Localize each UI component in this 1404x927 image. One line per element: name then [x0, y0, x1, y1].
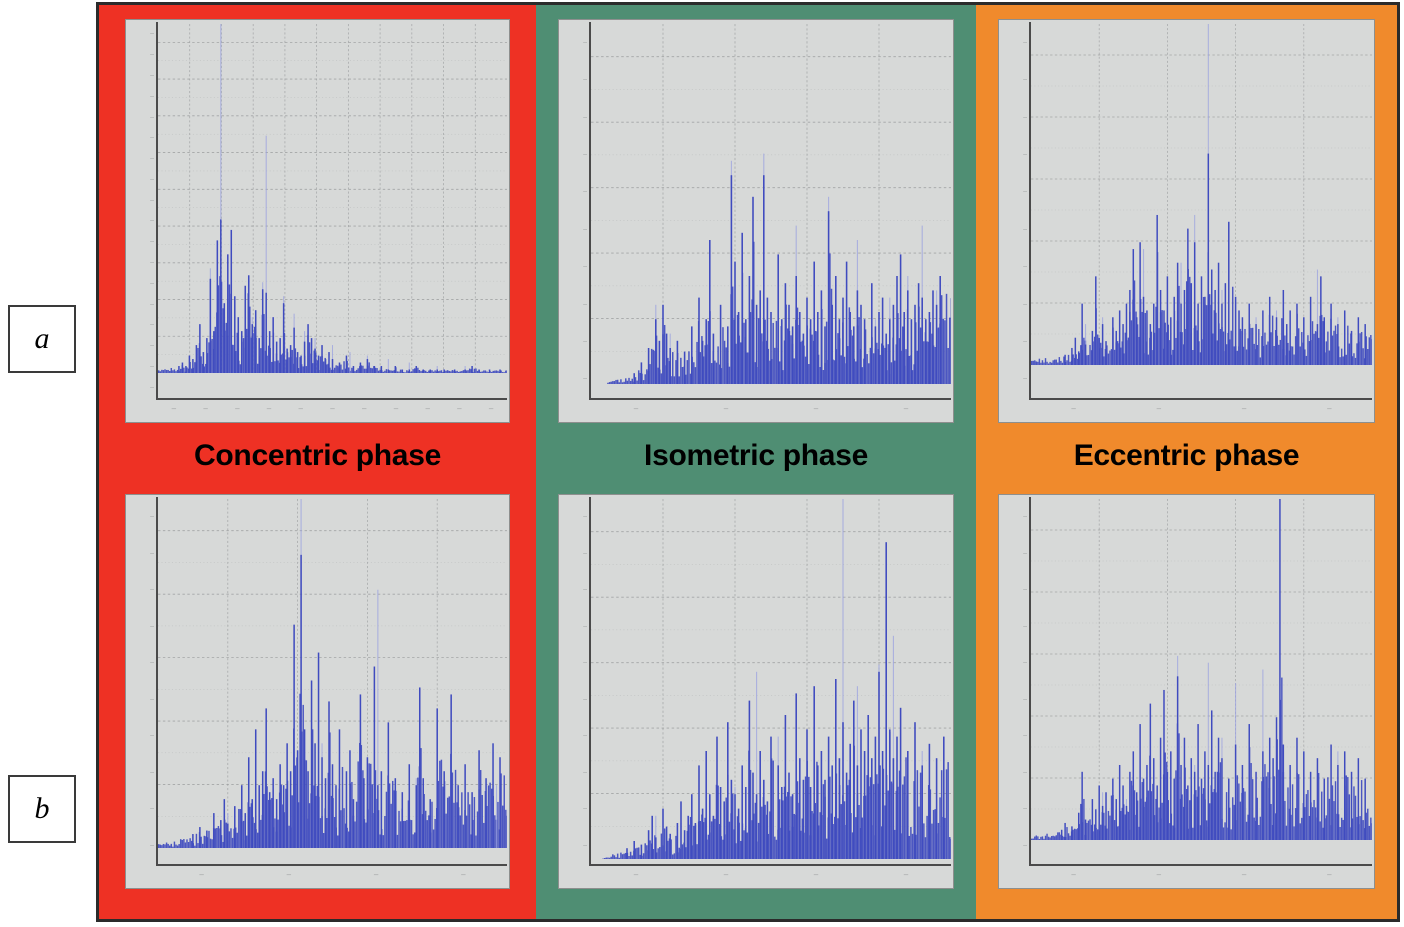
y-tick-label: –	[583, 76, 587, 84]
y-tick-label: –	[1023, 39, 1027, 47]
row-label-a: a	[8, 305, 76, 373]
plot-b-concentric: ––––––––––––––	[125, 494, 510, 889]
y-tick-label: –	[583, 659, 587, 667]
x-tick-labels: ––––	[1031, 866, 1372, 886]
y-tick-label: –	[1023, 375, 1027, 383]
x-tick-label: –	[287, 870, 291, 880]
y-tick-label: –	[1023, 76, 1027, 84]
x-tick-label: –	[904, 404, 908, 414]
plot-area	[591, 499, 951, 864]
y-tick-label: –	[1023, 769, 1027, 777]
x-tick-label: –	[1242, 870, 1246, 880]
y-tick-label: –	[1023, 114, 1027, 122]
y-tick-labels: ––––––––––	[128, 499, 156, 864]
y-tick-label: –	[150, 155, 154, 163]
y-tick-label: –	[150, 176, 154, 184]
y-tick-label: –	[150, 197, 154, 205]
y-tick-label: –	[583, 550, 587, 558]
plot-area	[158, 499, 507, 864]
y-tick-label: –	[150, 114, 154, 122]
y-tick-label: –	[150, 842, 154, 850]
y-tick-labels: ––––––––––––––––––	[128, 24, 156, 398]
caption-isometric: Isometric phase	[536, 427, 976, 484]
y-tick-label: –	[150, 586, 154, 594]
chart-canvas: ––––––––––––––	[999, 495, 1374, 888]
y-tick-label: –	[1023, 301, 1027, 309]
plot-a-isometric: ––––––––––––––	[558, 19, 954, 423]
y-tick-label: –	[583, 301, 587, 309]
y-tick-label: –	[1023, 188, 1027, 196]
y-tick-label: –	[583, 623, 587, 631]
y-tick-label: –	[1023, 586, 1027, 594]
row-label-a-text: a	[35, 322, 50, 356]
x-tick-label: –	[1071, 870, 1075, 880]
y-tick-labels: ––––––––––	[1001, 499, 1029, 864]
chart-canvas: ––––––––––––––	[559, 20, 953, 422]
x-tick-label: –	[634, 404, 638, 414]
x-tick-label: –	[724, 870, 728, 880]
x-tick-label: –	[1157, 870, 1161, 880]
y-tick-label: –	[583, 805, 587, 813]
x-tick-label: –	[199, 870, 203, 880]
y-tick-label: –	[150, 321, 154, 329]
y-tick-label: –	[583, 769, 587, 777]
x-tick-label: –	[235, 404, 239, 414]
figure-plate: ––––––––––––––––––––––––––––– Concentric…	[96, 2, 1400, 922]
x-tick-label: –	[904, 870, 908, 880]
y-tick-label: –	[150, 659, 154, 667]
panel-a-isometric: –––––––––––––– Isometric phase	[536, 5, 976, 484]
plot-area	[1031, 499, 1372, 864]
x-tick-labels: ––––	[1031, 400, 1372, 420]
y-tick-label: –	[150, 696, 154, 704]
y-tick-label: –	[1023, 151, 1027, 159]
plot-b-isometric: ––––––––––––––	[558, 494, 954, 889]
plot-area	[158, 24, 507, 398]
x-tick-label: –	[1157, 404, 1161, 414]
y-tick-label: –	[1023, 550, 1027, 558]
y-tick-label: –	[150, 30, 154, 38]
y-tick-label: –	[1023, 805, 1027, 813]
x-tick-labels: ––––	[591, 866, 951, 886]
panel-b-eccentric: ––––––––––––––	[976, 484, 1397, 919]
x-tick-label: –	[724, 404, 728, 414]
caption-eccentric-text: Eccentric phase	[1074, 439, 1300, 473]
x-tick-label: –	[374, 870, 378, 880]
panel-b-concentric: ––––––––––––––	[99, 484, 536, 919]
y-tick-label: –	[1023, 623, 1027, 631]
x-tick-labels: ––––	[591, 400, 951, 420]
y-tick-label: –	[1023, 263, 1027, 271]
plot-a-concentric: –––––––––––––––––––––––––––––	[125, 19, 510, 423]
y-tick-labels: ––––––––––	[561, 499, 589, 864]
y-tick-label: –	[583, 732, 587, 740]
plot-area	[1031, 24, 1372, 398]
y-tick-label: –	[583, 151, 587, 159]
x-tick-label: –	[330, 404, 334, 414]
y-tick-label: –	[583, 114, 587, 122]
y-tick-label: –	[150, 623, 154, 631]
y-tick-label: –	[1023, 338, 1027, 346]
y-tick-label: –	[583, 338, 587, 346]
x-tick-label: –	[267, 404, 271, 414]
x-tick-label: –	[634, 870, 638, 880]
y-tick-label: –	[150, 301, 154, 309]
x-tick-label: –	[814, 870, 818, 880]
y-tick-label: –	[583, 375, 587, 383]
x-tick-label: –	[172, 404, 176, 414]
y-tick-label: –	[150, 342, 154, 350]
x-tick-label: –	[203, 404, 207, 414]
figure-root: a b ––––––––––––––––––––––––––––– Concen…	[0, 0, 1404, 927]
x-tick-label: –	[299, 404, 303, 414]
x-tick-label: –	[1242, 404, 1246, 414]
y-tick-label: –	[583, 586, 587, 594]
chart-canvas: –––––––––––––––––––––––––––––	[126, 20, 509, 422]
row-label-b-text: b	[35, 792, 50, 826]
y-tick-label: –	[150, 732, 154, 740]
y-tick-label: –	[150, 51, 154, 59]
plot-b-eccentric: ––––––––––––––	[998, 494, 1375, 889]
y-tick-label: –	[150, 280, 154, 288]
y-tick-label: –	[1023, 842, 1027, 850]
x-tick-label: –	[461, 870, 465, 880]
y-tick-label: –	[150, 513, 154, 521]
row-label-b: b	[8, 775, 76, 843]
chart-canvas: ––––––––––––––	[126, 495, 509, 888]
caption-concentric-text: Concentric phase	[194, 439, 441, 473]
x-tick-label: –	[425, 404, 429, 414]
y-tick-label: –	[150, 134, 154, 142]
x-tick-label: –	[814, 404, 818, 414]
x-tick-label: –	[457, 404, 461, 414]
y-tick-label: –	[1023, 696, 1027, 704]
y-tick-label: –	[583, 513, 587, 521]
y-tick-label: –	[1023, 659, 1027, 667]
x-tick-label: –	[1071, 404, 1075, 414]
plot-a-eccentric: ––––––––––––––	[998, 19, 1375, 423]
x-tick-label: –	[1327, 404, 1331, 414]
x-tick-label: –	[394, 404, 398, 414]
y-tick-label: –	[1023, 732, 1027, 740]
y-tick-label: –	[583, 696, 587, 704]
panel-a-concentric: ––––––––––––––––––––––––––––– Concentric…	[99, 5, 536, 484]
x-tick-label: –	[1327, 870, 1331, 880]
chart-canvas: ––––––––––––––	[999, 20, 1374, 422]
y-tick-label: –	[583, 842, 587, 850]
x-tick-labels: ––––	[158, 866, 507, 886]
x-tick-labels: –––––––––––	[158, 400, 507, 420]
caption-eccentric: Eccentric phase	[976, 427, 1397, 484]
y-tick-label: –	[150, 72, 154, 80]
caption-concentric: Concentric phase	[99, 427, 536, 484]
y-tick-labels: ––––––––––	[1001, 24, 1029, 398]
y-tick-labels: ––––––––––	[561, 24, 589, 398]
x-tick-label: –	[362, 404, 366, 414]
y-tick-label: –	[583, 263, 587, 271]
y-tick-label: –	[150, 805, 154, 813]
y-tick-label: –	[150, 363, 154, 371]
panel-a-eccentric: –––––––––––––– Eccentric phase	[976, 5, 1397, 484]
y-tick-label: –	[150, 93, 154, 101]
y-tick-label: –	[150, 238, 154, 246]
y-tick-label: –	[150, 217, 154, 225]
plot-area	[591, 24, 951, 398]
panel-b-isometric: ––––––––––––––	[536, 484, 976, 919]
y-tick-label: –	[583, 188, 587, 196]
y-tick-label: –	[583, 39, 587, 47]
y-tick-label: –	[150, 550, 154, 558]
y-tick-label: –	[1023, 226, 1027, 234]
caption-isometric-text: Isometric phase	[644, 439, 868, 473]
y-tick-label: –	[150, 384, 154, 392]
chart-canvas: ––––––––––––––	[559, 495, 953, 888]
y-tick-label: –	[583, 226, 587, 234]
x-tick-label: –	[489, 404, 493, 414]
y-tick-label: –	[1023, 513, 1027, 521]
y-tick-label: –	[150, 259, 154, 267]
y-tick-label: –	[150, 769, 154, 777]
